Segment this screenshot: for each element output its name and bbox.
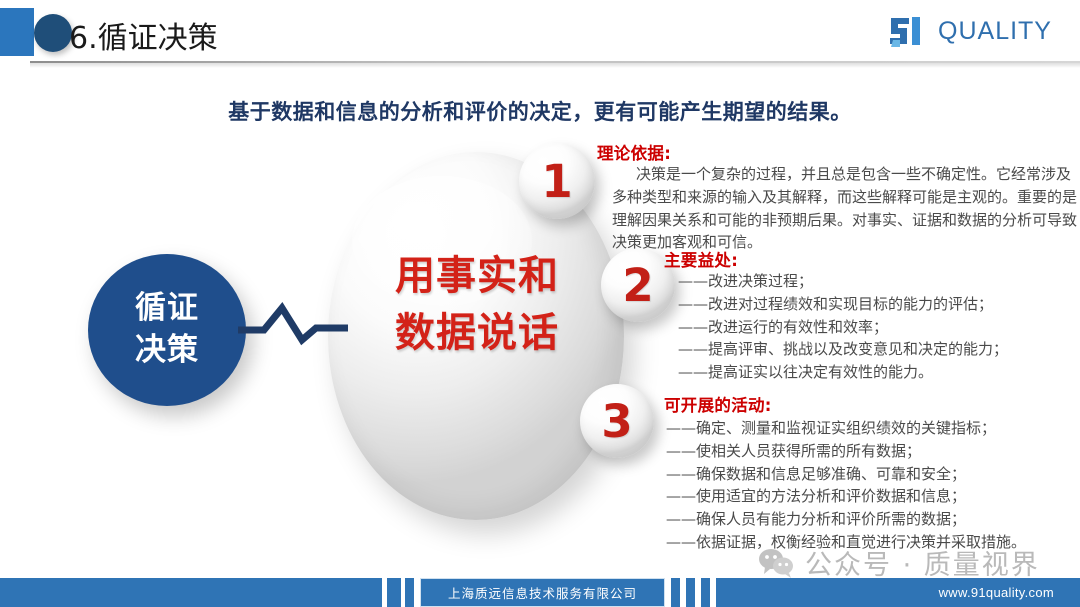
section-2-line-5: ——提高证实以往决定有效性的能力。 <box>678 361 1080 384</box>
slide-footer: 上海质远信息技术服务有限公司 www.91quality.com <box>0 578 1080 607</box>
section-3-line-4: ——使用适宜的方法分析和评价数据和信息； <box>666 485 1080 508</box>
section-3-heading: 可开展的活动: <box>664 392 772 416</box>
footer-stripe-3 <box>671 578 680 607</box>
footer-stripe-5 <box>701 578 710 607</box>
section-1-line-1: 决策是一个复杂的过程，并且总是包含一些不确定性。它经常涉及多种类型和来源的输入及… <box>612 163 1080 254</box>
section-1-body: 决策是一个复杂的过程，并且总是包含一些不确定性。它经常涉及多种类型和来源的输入及… <box>612 163 1080 254</box>
section-3-line-1: ——确定、测量和监视证实组织绩效的关键指标； <box>666 417 1080 440</box>
section-2-line-1: ——改进决策过程； <box>678 270 1080 293</box>
wechat-watermark: 公众号 · 质量视界 <box>758 543 1040 582</box>
section-3-body: ——确定、测量和监视证实组织绩效的关键指标； ——使相关人员获得所需的所有数据；… <box>666 417 1080 554</box>
footer-company-name: 上海质远信息技术服务有限公司 <box>448 583 637 602</box>
footer-website-url: www.91quality.com <box>939 585 1080 600</box>
content-column: 理论依据: 决策是一个复杂的过程，并且总是包含一些不确定性。它经常涉及多种类型和… <box>0 0 1080 607</box>
footer-stripe-4 <box>686 578 695 607</box>
wechat-watermark-text: 公众号 · 质量视界 <box>805 543 1040 582</box>
section-2-body: ——改进决策过程； ——改进对过程绩效和实现目标的能力的评估； ——改进运行的有… <box>678 270 1080 384</box>
section-1-heading: 理论依据: <box>597 140 671 164</box>
section-2-line-3: ——改进运行的有效性和效率； <box>678 316 1080 339</box>
footer-stripe-1 <box>387 578 401 607</box>
section-3-line-3: ——确保数据和信息足够准确、可靠和安全； <box>666 463 1080 486</box>
section-3-line-5: ——确保人员有能力分析和评价所需的数据； <box>666 508 1080 531</box>
footer-stripe-2 <box>405 578 414 607</box>
section-2-line-4: ——提高评审、挑战以及改变意见和决定的能力； <box>678 338 1080 361</box>
footer-company-panel: 上海质远信息技术服务有限公司 <box>420 578 665 607</box>
footer-bar-right: www.91quality.com <box>716 578 1080 607</box>
section-2-heading: 主要益处: <box>664 247 738 271</box>
section-3-line-2: ——使相关人员获得所需的所有数据； <box>666 440 1080 463</box>
wechat-icon <box>758 548 794 578</box>
footer-bar-left <box>0 578 382 607</box>
section-2-line-2: ——改进对过程绩效和实现目标的能力的评估； <box>678 293 1080 316</box>
